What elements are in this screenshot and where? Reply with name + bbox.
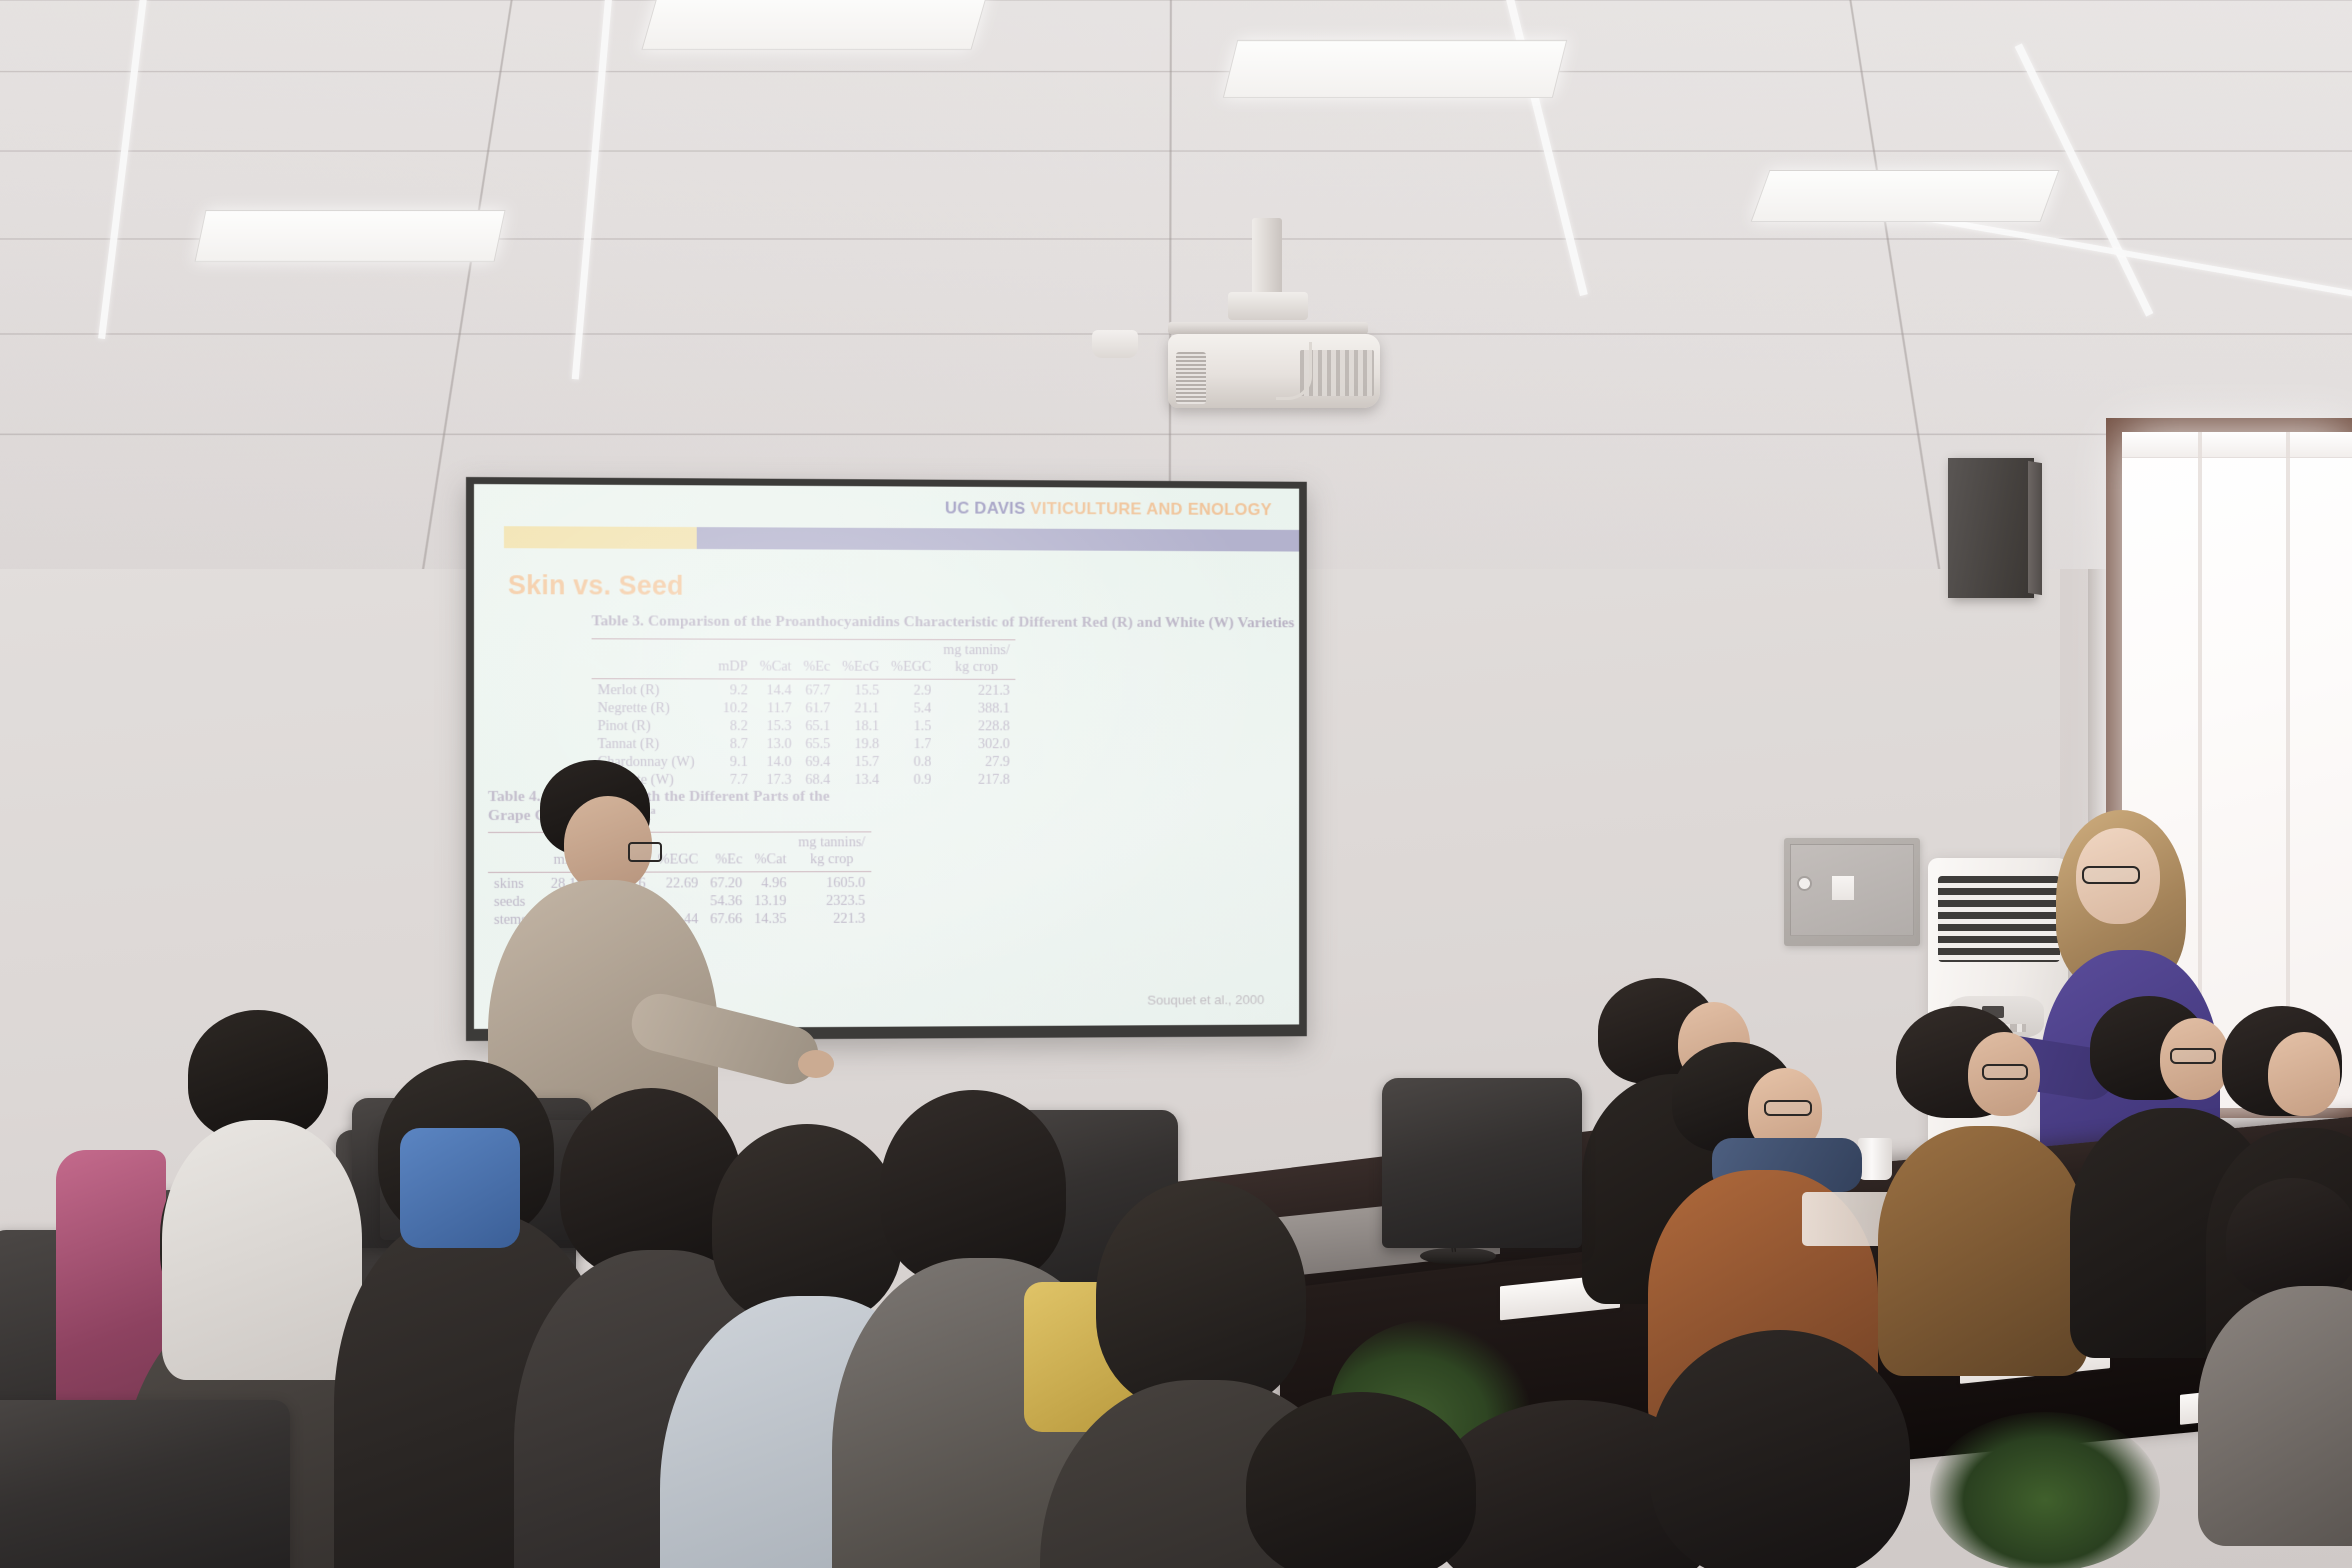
conference-room-scene: UC DAVIS VITICULTURE AND ENOLOGY Skin vs… bbox=[0, 0, 2352, 1568]
table3-col-cat: %Cat bbox=[754, 658, 798, 678]
table3-col-tannins-l2: kg crop bbox=[937, 659, 1015, 679]
table-row: skins 28.18 5.16 22.69 67.20 4.96 1605.0 bbox=[488, 872, 871, 894]
ceiling-light-panel bbox=[1223, 40, 1567, 98]
wall-speaker-side bbox=[2028, 461, 2042, 595]
window-transom bbox=[2122, 432, 2352, 458]
table-row: Pinot (R) 8.2 15.3 65.1 18.1 1.5 228.8 bbox=[592, 718, 1016, 736]
table3-col-egc: %EGC bbox=[885, 659, 937, 679]
slide-accent-bar bbox=[504, 526, 1299, 551]
accent-bar-gold bbox=[504, 526, 697, 549]
air-conditioner-grille bbox=[1938, 876, 2060, 962]
microphone-base bbox=[1420, 1248, 1496, 1264]
attendee-glasses bbox=[1764, 1100, 1812, 1116]
attendee-glasses bbox=[1982, 1064, 2028, 1080]
presenter-glasses bbox=[628, 842, 662, 862]
brand-department: VITICULTURE AND ENOLOGY bbox=[1030, 499, 1272, 519]
table3: mg tannins/ mDP %Cat %Ec %EcG %EGC kg cr… bbox=[592, 638, 1016, 789]
cabinet-label bbox=[1832, 876, 1854, 900]
attendee-hair bbox=[2226, 1178, 2352, 1298]
table-row: Clairette (W) 7.7 17.3 68.4 13.4 0.9 217… bbox=[592, 771, 1016, 789]
table3-col-mdp: mDP bbox=[712, 658, 753, 678]
ceiling-light-panel bbox=[1751, 170, 2060, 222]
audience-hair bbox=[1096, 1180, 1306, 1410]
audience-chair bbox=[1382, 1078, 1582, 1248]
table-row: Chardonnay (W) 9.1 14.0 69.4 15.7 0.8 27… bbox=[592, 754, 1016, 772]
audience-hair bbox=[1246, 1392, 1476, 1568]
projector-mount-pole bbox=[1252, 218, 1282, 296]
table3-col-tannins-l1: mg tannins/ bbox=[937, 640, 1015, 659]
attendee-torso bbox=[1878, 1126, 2088, 1376]
table4-col-tannins-l2: kg crop bbox=[792, 851, 871, 871]
accent-bar-purple bbox=[697, 527, 1299, 551]
attendee-head bbox=[2268, 1032, 2340, 1116]
presenter-hand bbox=[798, 1050, 834, 1078]
smoke-detector-icon bbox=[1092, 330, 1138, 358]
brand-uc-davis: UC DAVIS bbox=[945, 499, 1026, 518]
table-row: Tannat (R) 8.7 13.0 65.5 19.8 1.7 302.0 bbox=[592, 736, 1016, 754]
table-row: Negrette (R) 10.2 11.7 61.7 21.1 5.4 388… bbox=[592, 700, 1016, 718]
cabinet-lock-icon[interactable] bbox=[1799, 878, 1810, 889]
blue-garment bbox=[400, 1128, 520, 1248]
table-row: Merlot (R) 9.2 14.4 67.7 15.5 2.9 221.3 bbox=[592, 678, 1016, 700]
paper-cup bbox=[1858, 1138, 1892, 1180]
table4-col-tannins-l1: mg tannins/ bbox=[792, 832, 871, 851]
table4-col-ec: %Ec bbox=[704, 852, 748, 872]
table3-block: Table 3. Comparison of the Proanthocyani… bbox=[592, 612, 1295, 789]
projector-vent bbox=[1176, 352, 1206, 404]
table3-caption: Table 3. Comparison of the Proanthocyani… bbox=[592, 612, 1295, 632]
wall-speaker bbox=[1948, 458, 2034, 598]
table4-caption-superscript: a bbox=[651, 806, 656, 817]
ceiling-light-panel bbox=[194, 210, 505, 262]
audience-torso bbox=[162, 1120, 362, 1380]
audience-hair bbox=[880, 1090, 1066, 1286]
audience-hair bbox=[712, 1124, 902, 1324]
woman-glasses bbox=[2082, 866, 2140, 884]
ceiling-light-panel bbox=[641, 0, 988, 50]
audience-chair bbox=[0, 1400, 290, 1568]
slide-citation: Souquet et al., 2000 bbox=[1147, 992, 1264, 1007]
slide-brand-header: UC DAVIS VITICULTURE AND ENOLOGY bbox=[945, 499, 1272, 520]
slide-title: Skin vs. Seed bbox=[508, 570, 684, 602]
potted-plant bbox=[1930, 1412, 2160, 1568]
audience-hair bbox=[1650, 1330, 1910, 1568]
table3-col-ec: %Ec bbox=[797, 658, 836, 678]
table4-caption-line1: Table 4. Comparison with the Different P… bbox=[488, 788, 830, 805]
table3-col-ecg: %EcG bbox=[836, 659, 885, 679]
projector-mount-bracket bbox=[1228, 292, 1308, 320]
projector-mount-arm bbox=[1168, 322, 1368, 334]
attendee-glasses bbox=[2170, 1048, 2216, 1064]
table4-col-cat: %Cat bbox=[748, 851, 792, 871]
